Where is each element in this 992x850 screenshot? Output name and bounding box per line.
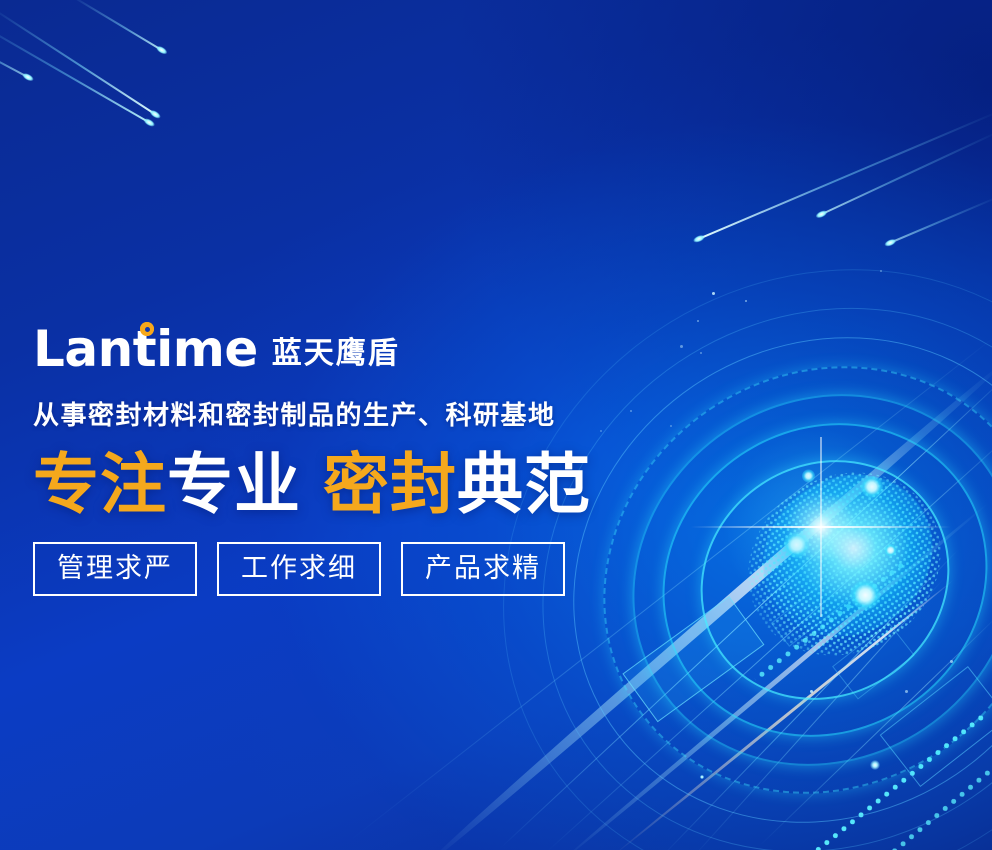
tech-frame — [832, 622, 915, 699]
tech-frame — [622, 596, 764, 722]
tagline-group: 管理求严 工作求细 产品求精 — [33, 542, 673, 596]
star-dot — [697, 320, 699, 322]
tagline-box-3[interactable]: 产品求精 — [401, 542, 565, 596]
dot-matrix-sphere — [712, 435, 976, 692]
orbit-ring — [654, 412, 992, 747]
glow-node — [778, 527, 814, 563]
tagline-box-1[interactable]: 管理求严 — [33, 542, 197, 596]
star-dot — [712, 292, 715, 295]
meteor-streak-icon — [0, 18, 152, 125]
glow-core — [732, 442, 964, 668]
dotted-tech-line — [838, 761, 992, 850]
glow-node — [857, 472, 888, 503]
headline-part-1: 专注 — [33, 447, 167, 521]
tech-hairline — [660, 549, 959, 850]
meteor-streak-icon — [696, 110, 992, 241]
star-dot — [700, 352, 702, 354]
meteor-streak-icon — [818, 130, 992, 216]
hero-content: Lantime 蓝天鹰盾 从事密封材料和密封制品的生产、科研基地 专注专业密封典… — [33, 318, 673, 596]
brand-logo[interactable]: Lantime 蓝天鹰盾 — [33, 318, 673, 374]
headline-part-4: 典范 — [457, 447, 591, 521]
tagline-box-2[interactable]: 工作求细 — [217, 542, 381, 596]
meteor-streak-icon — [887, 196, 992, 245]
logo-wordmark: Lantime — [33, 324, 258, 374]
dotted-tech-line — [727, 713, 987, 850]
glow-node — [882, 542, 899, 559]
meteor-streak-icon — [0, 40, 31, 79]
tech-frame — [771, 548, 886, 647]
dotted-tech-line — [754, 561, 907, 682]
glow-node — [799, 467, 817, 485]
lens-flare — [706, 412, 936, 642]
star-dot — [810, 690, 813, 693]
star-dot — [950, 660, 953, 663]
hero-headline: 专注专业密封典范 — [33, 448, 673, 520]
tech-hairline — [760, 616, 992, 846]
glow-node — [844, 574, 886, 616]
light-beam — [611, 578, 955, 850]
logo-chinese-name: 蓝天鹰盾 — [272, 337, 400, 374]
headline-part-2: 专业 — [167, 447, 301, 521]
hero-banner: Lantime 蓝天鹰盾 从事密封材料和密封制品的生产、科研基地 专注专业密封典… — [0, 0, 992, 850]
headline-part-3: 密封 — [323, 447, 457, 521]
tech-hairline — [690, 578, 945, 850]
meteor-streak-icon — [69, 0, 164, 53]
meteor-streak-icon — [0, 6, 158, 117]
star-dot — [905, 690, 908, 693]
tech-frame — [880, 666, 992, 787]
star-dot — [680, 345, 683, 348]
star-dot — [870, 760, 880, 770]
orange-ring-dot-icon — [140, 322, 154, 336]
hero-subtitle: 从事密封材料和密封制品的生产、科研基地 — [33, 400, 673, 430]
star-dot — [700, 775, 704, 779]
star-dot — [880, 270, 882, 272]
star-dot — [745, 300, 747, 302]
